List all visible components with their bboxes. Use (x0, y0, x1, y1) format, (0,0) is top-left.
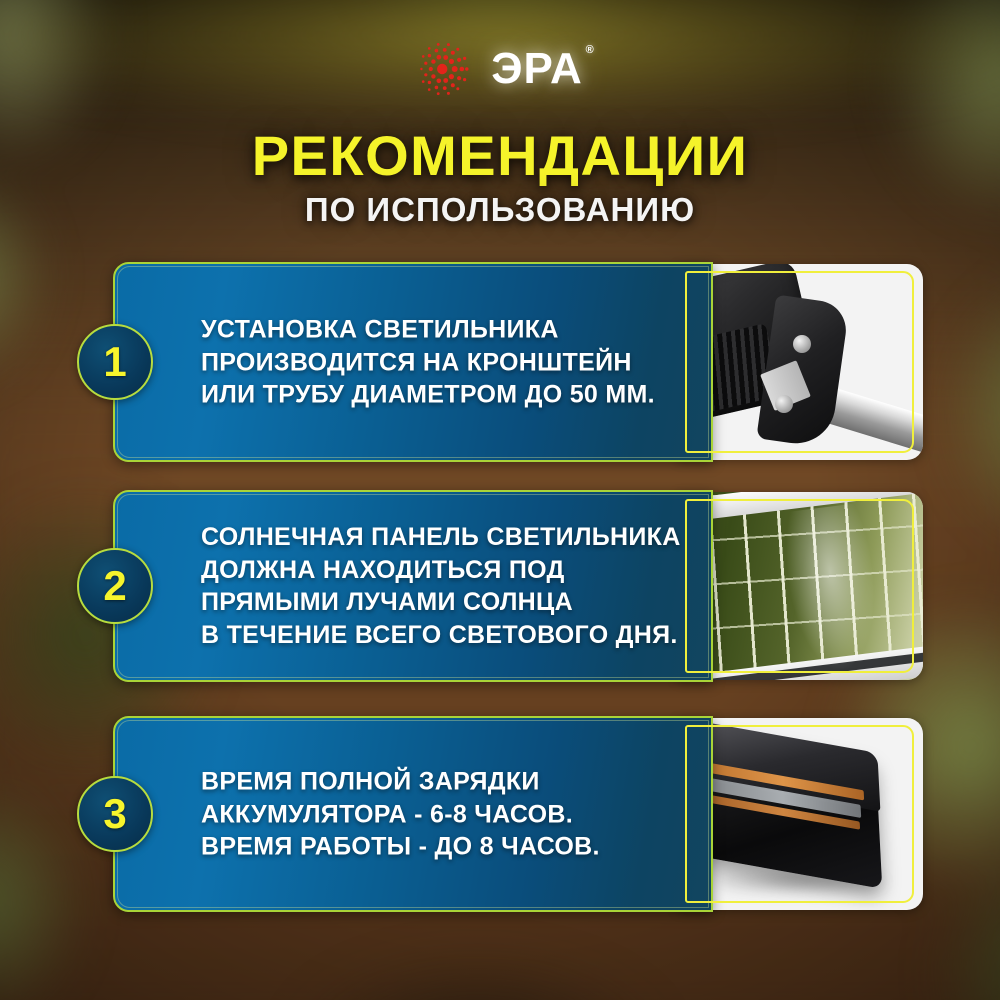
page-title: РЕКОМЕНДАЦИИ (0, 128, 1000, 184)
card-2-line-1: СОЛНЕЧНАЯ ПАНЕЛЬ СВЕТИЛЬНИКА (201, 521, 913, 554)
card-1-number: 1 (103, 341, 126, 383)
brand-logo-word: ЭРА (491, 44, 583, 93)
card-3-text: ВРЕМЯ ПОЛНОЙ ЗАРЯДКИ АККУМУЛЯТОРА - 6-8 … (201, 765, 913, 863)
era-sunburst-icon (417, 38, 479, 100)
recommendation-card-1: ЭРА 1 УСТАНОВКА СВЕТИЛЬНИКА ПРОИЗВОДИТСЯ… (77, 262, 923, 462)
page-subtitle: ПО ИСПОЛЬЗОВАНИЮ (0, 193, 1000, 226)
card-2-number: 2 (103, 565, 126, 607)
card-3-line-3: ВРЕМЯ РАБОТЫ - ДО 8 ЧАСОВ. (201, 830, 913, 863)
card-3-number: 3 (103, 793, 126, 835)
card-3-line-2: АККУМУЛЯТОРА - 6-8 ЧАСОВ. (201, 798, 913, 831)
card-2-line-2: ДОЛЖНА НАХОДИТЬСЯ ПОД (201, 554, 913, 587)
card-1-number-badge: 1 (77, 324, 153, 400)
card-2-text: СОЛНЕЧНАЯ ПАНЕЛЬ СВЕТИЛЬНИКА ДОЛЖНА НАХО… (201, 521, 913, 651)
header: ЭРА ® РЕКОМЕНДАЦИИ ПО ИСПОЛЬЗОВАНИЮ (0, 0, 1000, 240)
recommendation-card-2: 2 СОЛНЕЧНАЯ ПАНЕЛЬ СВЕТИЛЬНИКА ДОЛЖНА НА… (77, 490, 923, 682)
card-1-line-2: ПРОИЗВОДИТСЯ НА КРОНШТЕЙН (201, 346, 913, 379)
card-2-line-3: ПРЯМЫМИ ЛУЧАМИ СОЛНЦА (201, 586, 913, 619)
brand-logo-text: ЭРА ® (491, 47, 583, 91)
card-1-text: УСТАНОВКА СВЕТИЛЬНИКА ПРОИЗВОДИТСЯ НА КР… (201, 313, 913, 411)
card-1-line-3: ИЛИ ТРУБУ ДИАМЕТРОМ ДО 50 ММ. (201, 378, 913, 411)
brand-logo: ЭРА ® (417, 38, 583, 100)
card-1-line-1: УСТАНОВКА СВЕТИЛЬНИКА (201, 313, 913, 346)
card-3-number-badge: 3 (77, 776, 153, 852)
registered-mark: ® (586, 45, 595, 56)
card-2-line-4: В ТЕЧЕНИЕ ВСЕГО СВЕТОВОГО ДНЯ. (201, 619, 913, 652)
card-2-number-badge: 2 (77, 548, 153, 624)
card-3-line-1: ВРЕМЯ ПОЛНОЙ ЗАРЯДКИ (201, 765, 913, 798)
recommendation-card-3: 3 ВРЕМЯ ПОЛНОЙ ЗАРЯДКИ АККУМУЛЯТОРА - 6-… (77, 716, 923, 912)
